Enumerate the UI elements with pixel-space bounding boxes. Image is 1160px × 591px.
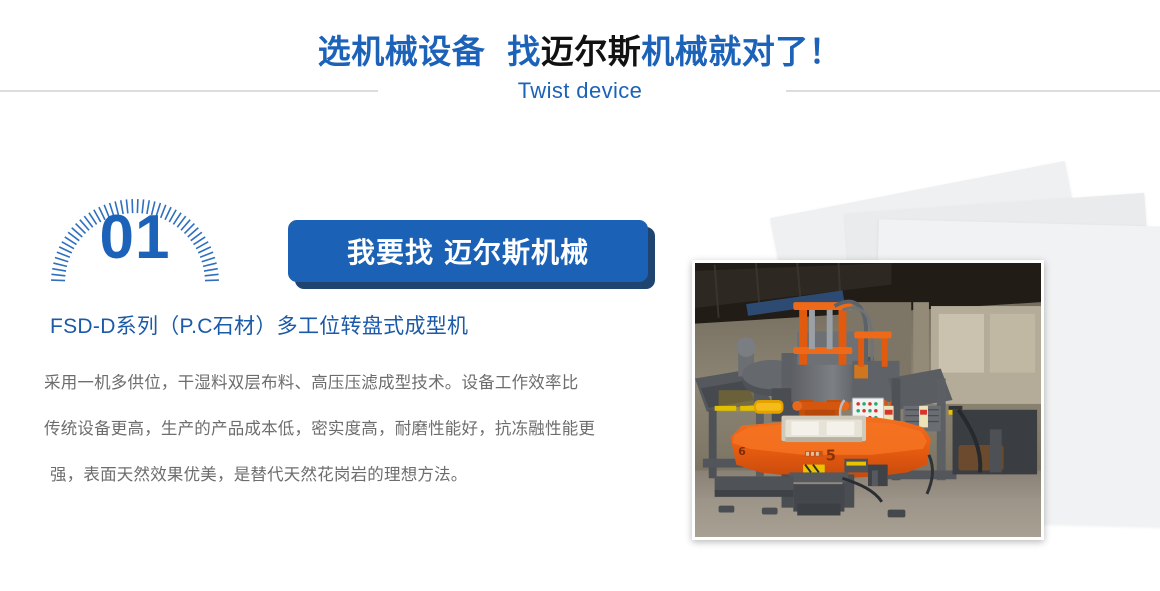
- svg-text:6: 6: [738, 445, 746, 458]
- title-segment-brand: 迈尔斯: [541, 33, 642, 70]
- title-segment-find: 找: [507, 33, 541, 70]
- description-line: 强，表面天然效果优美，是替代天然花岗岩的理想方法。: [44, 452, 669, 498]
- description-line: 采用一机多供位，干湿料双层布料、高压压滤成型技术。设备工作效率比: [44, 360, 669, 406]
- promo-banner: 选机械设备找迈尔斯机械就对了！ Twist device 01 我要找迈尔斯机械…: [0, 0, 1160, 591]
- product-description: 采用一机多供位，干湿料双层布料、高压压滤成型技术。设备工作效率比 传统设备更高，…: [44, 360, 669, 498]
- svg-text:5: 5: [826, 448, 836, 465]
- find-brand-button[interactable]: 我要找迈尔斯机械: [288, 220, 648, 282]
- cta-label-prefix: 我要找: [347, 231, 434, 271]
- cta-label-brand: 迈尔斯机械: [444, 231, 589, 271]
- page-subtitle: Twist device: [0, 78, 1160, 104]
- description-line: 传统设备更高，生产的产品成本低，密实度高，耐磨性能好，抗冻融性能更: [44, 406, 669, 452]
- step-badge: 01: [45, 165, 225, 285]
- product-title: FSD-D系列（P.C石材）多工位转盘式成型机: [50, 310, 468, 340]
- photo-stack: 6 5: [680, 175, 1160, 575]
- content-left: 01 我要找迈尔斯机械 FSD-D系列（P.C石材）多工位转盘式成型机 采用一机…: [0, 165, 690, 565]
- title-segment-select: 选机械设备: [318, 33, 486, 70]
- page-title: 选机械设备找迈尔斯机械就对了！: [0, 30, 1160, 74]
- header: 选机械设备找迈尔斯机械就对了！ Twist device: [0, 0, 1160, 130]
- title-segment-tail: 机械就对了！: [641, 33, 842, 70]
- product-photo: 6 5: [695, 263, 1041, 537]
- step-badge-number: 01: [45, 203, 225, 273]
- product-photo-frame[interactable]: 6 5: [692, 260, 1044, 540]
